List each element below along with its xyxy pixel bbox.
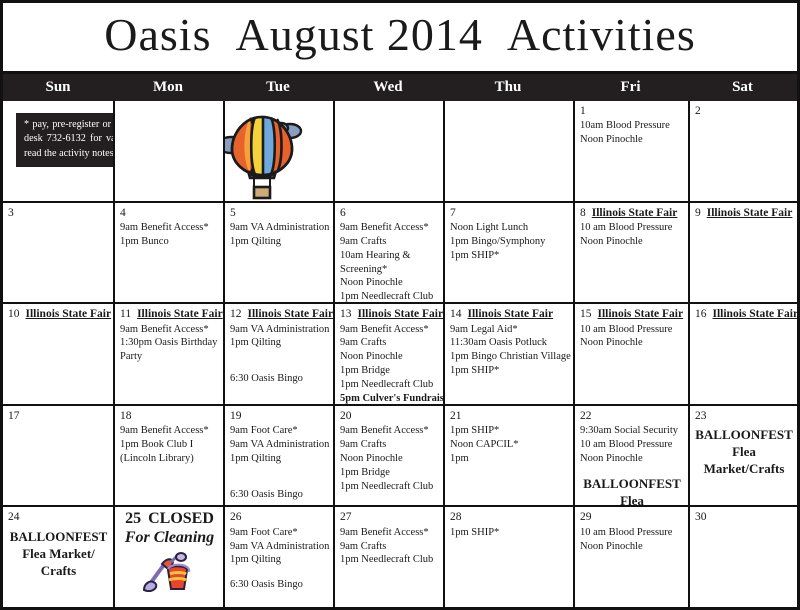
day-number: 6	[340, 206, 346, 220]
day-number: 28	[450, 510, 462, 524]
day-cell-11[interactable]: 11Illinois State Fair9am Benefit Access*…	[113, 304, 223, 404]
day-header: 14Illinois State Fair	[450, 307, 569, 321]
event-list: 10 am Blood PressureNoon Pinochle	[580, 323, 684, 351]
day-header: 19	[230, 409, 329, 423]
day-number: 11	[120, 307, 131, 321]
weekday-header-tue: Tue	[223, 74, 333, 101]
day-header: 24	[8, 510, 109, 524]
event-item[interactable]: 9am Foot Care*	[230, 526, 329, 540]
event-item[interactable]: 1pm Bridge	[340, 466, 439, 480]
day-cell-24[interactable]: 24BALLOONFESTFlea Market/Crafts	[3, 507, 113, 607]
event-item[interactable]: 6:30 Oasis Bingo	[230, 372, 329, 386]
day-cell-empty[interactable]	[333, 101, 443, 201]
day-cell-5[interactable]: 59am VA Administration1pm Qilting	[223, 203, 333, 303]
balloonfest-banner: BALLOONFESTFlea Market/Crafts	[580, 476, 684, 506]
balloonfest-label: BALLOONFEST	[580, 476, 684, 493]
day-cell-empty[interactable]	[223, 101, 333, 201]
day-number: 12	[230, 307, 242, 321]
day-header: 7	[450, 206, 569, 220]
event-spacer	[230, 466, 329, 477]
event-item[interactable]: 9am Crafts	[340, 540, 439, 554]
day-cell-9[interactable]: 9Illinois State Fair	[688, 203, 797, 303]
event-item-highlighted[interactable]: 5pm Culver's Fundraiser	[340, 392, 439, 404]
event-item[interactable]: 1pm Needlecraft Club	[340, 290, 439, 302]
event-item[interactable]: 10 am Blood Pressure	[580, 526, 684, 540]
event-item[interactable]: 10 am Blood Pressure	[580, 221, 684, 235]
day-number: 10	[8, 307, 20, 321]
calendar: OasisAugust 2014Activities Sun Mon Tue W…	[0, 0, 800, 610]
event-list: 9am Benefit Access*9am CraftsNoon Pinoch…	[340, 323, 439, 404]
day-cell-30[interactable]: 30	[688, 507, 797, 607]
day-cell-8[interactable]: 8Illinois State Fair10 am Blood Pressure…	[573, 203, 688, 303]
weekday-header-wed: Wed	[333, 74, 443, 101]
event-item[interactable]: 1pm Book Club I	[120, 438, 219, 452]
event-item[interactable]: 10am Hearing &	[340, 249, 439, 263]
day-header: 27	[340, 510, 439, 524]
event-item[interactable]: 6:30 Oasis Bingo	[230, 488, 329, 502]
illinois-state-fair-tag: Illinois State Fair	[598, 308, 684, 320]
event-spacer	[230, 361, 329, 372]
illinois-state-fair-tag: Illinois State Fair	[137, 308, 223, 320]
illinois-state-fair-tag: Illinois State Fair	[26, 308, 112, 320]
hot-air-balloon-icon	[223, 105, 307, 201]
event-list: 9am Foot Care*9am VA Administration1pm Q…	[230, 526, 329, 592]
event-item[interactable]: 9am VA Administration	[230, 438, 329, 452]
day-cell-26[interactable]: 269am Foot Care*9am VA Administration1pm…	[223, 507, 333, 607]
week-row: * pay, pre-register or make an appointme…	[3, 101, 797, 201]
day-number: 22	[580, 409, 592, 423]
title-part-organization: Oasis	[104, 9, 211, 60]
day-number: 3	[8, 206, 14, 220]
calendar-title-bar: OasisAugust 2014Activities	[3, 3, 797, 74]
day-cell-2[interactable]: 2	[688, 101, 797, 201]
day-header: 2	[695, 104, 793, 118]
day-cell-16[interactable]: 16Illinois State Fair	[688, 304, 797, 404]
event-item[interactable]: Noon Pinochle	[580, 235, 684, 249]
flea-market-label: Flea Market/Crafts	[695, 444, 793, 478]
day-number: 18	[120, 409, 132, 423]
closed-label: CLOSED	[148, 510, 214, 528]
event-list: 9am Benefit Access*9am Crafts10am Hearin…	[340, 221, 439, 302]
event-item[interactable]: 1pm Needlecraft Club	[340, 553, 439, 567]
day-header: 21	[450, 409, 569, 423]
event-item[interactable]: 6:30 Oasis Bingo	[230, 578, 329, 592]
event-spacer	[230, 350, 329, 361]
day-number: 2	[695, 104, 701, 118]
event-list: 9:30am Social Security10 am Blood Pressu…	[580, 424, 684, 466]
day-cell-18[interactable]: 189am Benefit Access*1pm Book Club I(Lin…	[113, 406, 223, 506]
day-header: 11Illinois State Fair	[120, 307, 219, 321]
balloonfest-label: BALLOONFEST	[695, 427, 793, 444]
day-cell-25[interactable]: 25CLOSEDFor Cleaning	[113, 507, 223, 607]
day-number: 1	[580, 104, 586, 118]
event-list: 1pm SHIP*	[450, 526, 569, 540]
event-item[interactable]: 1pm Qilting	[230, 452, 329, 466]
day-number: 30	[695, 510, 707, 524]
day-number: 26	[230, 510, 242, 524]
day-number: 23	[695, 409, 707, 423]
event-item[interactable]: 1pm Bunco	[120, 235, 219, 249]
event-item[interactable]: 9am Foot Care*	[230, 424, 329, 438]
week-row: 24BALLOONFESTFlea Market/Crafts25CLOSEDF…	[3, 505, 797, 607]
event-spacer	[230, 567, 329, 578]
day-header: 8Illinois State Fair	[580, 206, 684, 220]
event-item[interactable]: Noon Pinochle	[580, 540, 684, 554]
event-item[interactable]: 9am VA Administration	[230, 540, 329, 554]
day-cell-12[interactable]: 12Illinois State Fair9am VA Administrati…	[223, 304, 333, 404]
event-item[interactable]: 1pm Qilting	[230, 553, 329, 567]
balloonfest-banner: BALLOONFESTFlea Market/Crafts	[8, 529, 109, 580]
day-cell-13[interactable]: 13Illinois State Fair9am Benefit Access*…	[333, 304, 443, 404]
day-number: 29	[580, 510, 592, 524]
illinois-state-fair-tag: Illinois State Fair	[713, 308, 798, 320]
event-item[interactable]: Noon Light Lunch	[450, 221, 569, 235]
weekday-header-row: Sun Mon Tue Wed Thu Fri Sat	[3, 74, 797, 101]
event-item[interactable]: 9am Benefit Access*	[340, 221, 439, 235]
day-number: 17	[8, 409, 20, 423]
day-number: 5	[230, 206, 236, 220]
day-number: 4	[120, 206, 126, 220]
day-cell-3[interactable]: 3	[3, 203, 113, 303]
day-number: 14	[450, 307, 462, 321]
event-item[interactable]: 10 am Blood Pressure	[580, 323, 684, 337]
day-cell-empty[interactable]	[113, 101, 223, 201]
day-number: 19	[230, 409, 242, 423]
event-item[interactable]: 1pm Bridge	[340, 364, 439, 378]
title-part-month: August 2014	[235, 9, 482, 60]
event-list: 9am Benefit Access*1:30pm Oasis Birthday…	[120, 323, 219, 365]
balloonfest-label: BALLOONFEST	[8, 529, 109, 546]
event-item[interactable]: 1pm Bingo/Symphony	[450, 235, 569, 249]
event-list: 9am VA Administration1pm Qilting	[230, 221, 329, 249]
day-cell-20[interactable]: 209am Benefit Access*9am CraftsNoon Pino…	[333, 406, 443, 506]
event-spacer	[230, 477, 329, 488]
event-item[interactable]: 1pm Qilting	[230, 336, 329, 350]
event-list: 9am Legal Aid*11:30am Oasis Potluck1pm B…	[450, 323, 569, 378]
flea-market-label-line1: Flea Market/	[8, 546, 109, 563]
event-item[interactable]: Noon Pinochle	[340, 452, 439, 466]
day-number: 8	[580, 206, 586, 220]
day-cell-4[interactable]: 49am Benefit Access*1pm Bunco	[113, 203, 223, 303]
event-list: 9am Benefit Access*1pm Bunco	[120, 221, 219, 249]
day-cell-1[interactable]: 110am Blood PressureNoon Pinochle	[573, 101, 688, 201]
day-cell-23[interactable]: 23BALLOONFESTFlea Market/Crafts	[688, 406, 797, 506]
day-header: 17	[8, 409, 109, 423]
day-header: 1	[580, 104, 684, 118]
event-item[interactable]: 1:30pm Oasis Birthday	[120, 336, 219, 350]
day-cell-15[interactable]: 15Illinois State Fair10 am Blood Pressur…	[573, 304, 688, 404]
day-header: 18	[120, 409, 219, 423]
day-cell-7[interactable]: 7Noon Light Lunch1pm Bingo/Symphony1pm S…	[443, 203, 573, 303]
day-header: 6	[340, 206, 439, 220]
event-item[interactable]: 9am Benefit Access*	[340, 323, 439, 337]
page-title: OasisAugust 2014Activities	[104, 12, 696, 62]
day-number: 21	[450, 409, 462, 423]
event-item[interactable]: 9am Benefit Access*	[120, 424, 219, 438]
illinois-state-fair-tag: Illinois State Fair	[592, 207, 678, 219]
event-list: 9am Benefit Access*1pm Book Club I(Linco…	[120, 424, 219, 466]
event-item[interactable]: 1pm SHIP*	[450, 364, 569, 378]
weekday-header-mon: Mon	[113, 74, 223, 101]
for-cleaning-label: For Cleaning	[120, 529, 219, 547]
event-item[interactable]: 1pm Bingo Christian Village	[450, 350, 569, 364]
event-item[interactable]: (Lincoln Library)	[120, 452, 219, 466]
day-number: 27	[340, 510, 352, 524]
day-header: 9Illinois State Fair	[695, 206, 793, 220]
day-number: 24	[8, 510, 20, 524]
day-header: 10Illinois State Fair	[8, 307, 109, 321]
event-item[interactable]: 9am Crafts	[340, 336, 439, 350]
event-list: 10 am Blood PressureNoon Pinochle	[580, 526, 684, 554]
event-item[interactable]: 10 am Blood Pressure	[580, 438, 684, 452]
day-cell-29[interactable]: 2910 am Blood PressureNoon Pinochle	[573, 507, 688, 607]
day-header: 15Illinois State Fair	[580, 307, 684, 321]
event-list: Noon Light Lunch1pm Bingo/Symphony1pm SH…	[450, 221, 569, 263]
closed-day-header: 25CLOSED	[120, 510, 219, 528]
day-cell-28[interactable]: 281pm SHIP*	[443, 507, 573, 607]
day-number: 25	[125, 510, 141, 528]
event-item[interactable]: Noon Pinochle	[340, 350, 439, 364]
event-list: 9am Benefit Access*9am CraftsNoon Pinoch…	[340, 424, 439, 493]
weekday-header-sat: Sat	[688, 74, 797, 101]
activity-note-box: * pay, pre-register or make an appointme…	[16, 113, 113, 167]
flea-market-label-line2: Crafts	[8, 563, 109, 580]
event-item[interactable]: 1pm SHIP*	[450, 249, 569, 263]
day-header: 4	[120, 206, 219, 220]
day-cell-17[interactable]: 17	[3, 406, 113, 506]
event-item[interactable]: 9am Benefit Access*	[340, 526, 439, 540]
event-item[interactable]: 9am Benefit Access*	[340, 424, 439, 438]
event-item[interactable]: 9am Benefit Access*	[120, 221, 219, 235]
day-header: 23	[695, 409, 793, 423]
weekday-header-sun: Sun	[3, 74, 113, 101]
event-item[interactable]: 1pm SHIP*	[450, 526, 569, 540]
weekday-header-thu: Thu	[443, 74, 573, 101]
cleaning-bucket-mop-icon	[120, 548, 219, 592]
day-header: 5	[230, 206, 329, 220]
day-cell-21[interactable]: 211pm SHIP*Noon CAPCIL*1pm	[443, 406, 573, 506]
event-list: 9am VA Administration1pm Qilting6:30 Oas…	[230, 323, 329, 387]
event-item[interactable]: 9:30am Social Security	[580, 424, 684, 438]
day-cell-empty[interactable]	[443, 101, 573, 201]
event-item[interactable]: 9am Legal Aid*	[450, 323, 569, 337]
day-cell-19[interactable]: 199am Foot Care*9am VA Administration1pm…	[223, 406, 333, 506]
day-cell-27[interactable]: 279am Benefit Access*9am Crafts1pm Needl…	[333, 507, 443, 607]
event-list: 10am Blood PressureNoon Pinochle	[580, 119, 684, 147]
day-cell-empty[interactable]: * pay, pre-register or make an appointme…	[3, 101, 113, 201]
event-list: 10 am Blood PressureNoon Pinochle	[580, 221, 684, 249]
event-list: 9am Benefit Access*9am Crafts1pm Needlec…	[340, 526, 439, 568]
day-number: 13	[340, 307, 352, 321]
day-header: 28	[450, 510, 569, 524]
day-number: 7	[450, 206, 456, 220]
event-item[interactable]: 1pm Qilting	[230, 235, 329, 249]
day-cell-14[interactable]: 14Illinois State Fair9am Legal Aid*11:30…	[443, 304, 573, 404]
event-item[interactable]: 11:30am Oasis Potluck	[450, 336, 569, 350]
day-number: 16	[695, 307, 707, 321]
weekday-header-fri: Fri	[573, 74, 688, 101]
day-number: 9	[695, 206, 701, 220]
event-item[interactable]: Noon Pinochle	[580, 133, 684, 147]
illinois-state-fair-tag: Illinois State Fair	[707, 207, 793, 219]
event-item[interactable]: 9am Crafts	[340, 235, 439, 249]
illinois-state-fair-tag: Illinois State Fair	[358, 308, 444, 320]
day-cell-6[interactable]: 69am Benefit Access*9am Crafts10am Heari…	[333, 203, 443, 303]
event-item[interactable]: Noon Pinochle	[580, 452, 684, 466]
week-row: 349am Benefit Access*1pm Bunco59am VA Ad…	[3, 201, 797, 303]
event-item[interactable]: Screening*	[340, 263, 439, 277]
event-item[interactable]: 1pm	[450, 452, 569, 466]
day-cell-10[interactable]: 10Illinois State Fair	[3, 304, 113, 404]
event-item[interactable]: 9am VA Administration	[230, 221, 329, 235]
day-header: 29	[580, 510, 684, 524]
day-header: 12Illinois State Fair	[230, 307, 329, 321]
day-header: 20	[340, 409, 439, 423]
event-item[interactable]: 1pm SHIP*	[450, 424, 569, 438]
illinois-state-fair-tag: Illinois State Fair	[468, 308, 554, 320]
event-item[interactable]: Noon Pinochle	[340, 276, 439, 290]
day-header: 22	[580, 409, 684, 423]
event-item[interactable]: 9am VA Administration	[230, 323, 329, 337]
day-cell-22[interactable]: 229:30am Social Security10 am Blood Pres…	[573, 406, 688, 506]
week-row: 17189am Benefit Access*1pm Book Club I(L…	[3, 404, 797, 506]
event-item[interactable]: Noon Pinochle	[580, 336, 684, 350]
illinois-state-fair-tag: Illinois State Fair	[248, 308, 334, 320]
event-item[interactable]: Party	[120, 350, 219, 364]
event-item[interactable]: 1pm Needlecraft Club	[340, 378, 439, 392]
event-item[interactable]: 10am Blood Pressure	[580, 119, 684, 133]
calendar-grid: * pay, pre-register or make an appointme…	[3, 101, 797, 607]
event-item[interactable]: 9am Crafts	[340, 438, 439, 452]
week-row: 10Illinois State Fair11Illinois State Fa…	[3, 302, 797, 404]
day-header: 26	[230, 510, 329, 524]
day-header: 16Illinois State Fair	[695, 307, 793, 321]
day-header: 13Illinois State Fair	[340, 307, 439, 321]
event-item[interactable]: Noon CAPCIL*	[450, 438, 569, 452]
flea-market-label: Flea Market/Crafts	[580, 493, 684, 506]
event-list: 1pm SHIP*Noon CAPCIL*1pm	[450, 424, 569, 466]
day-header: 3	[8, 206, 109, 220]
event-item[interactable]: 9am Benefit Access*	[120, 323, 219, 337]
title-part-suffix: Activities	[507, 9, 696, 60]
day-number: 20	[340, 409, 352, 423]
balloonfest-banner: BALLOONFESTFlea Market/Crafts	[695, 427, 793, 478]
event-list: 9am Foot Care*9am VA Administration1pm Q…	[230, 424, 329, 501]
day-header: 30	[695, 510, 793, 524]
event-item[interactable]: 1pm Needlecraft Club	[340, 480, 439, 494]
day-number: 15	[580, 307, 592, 321]
